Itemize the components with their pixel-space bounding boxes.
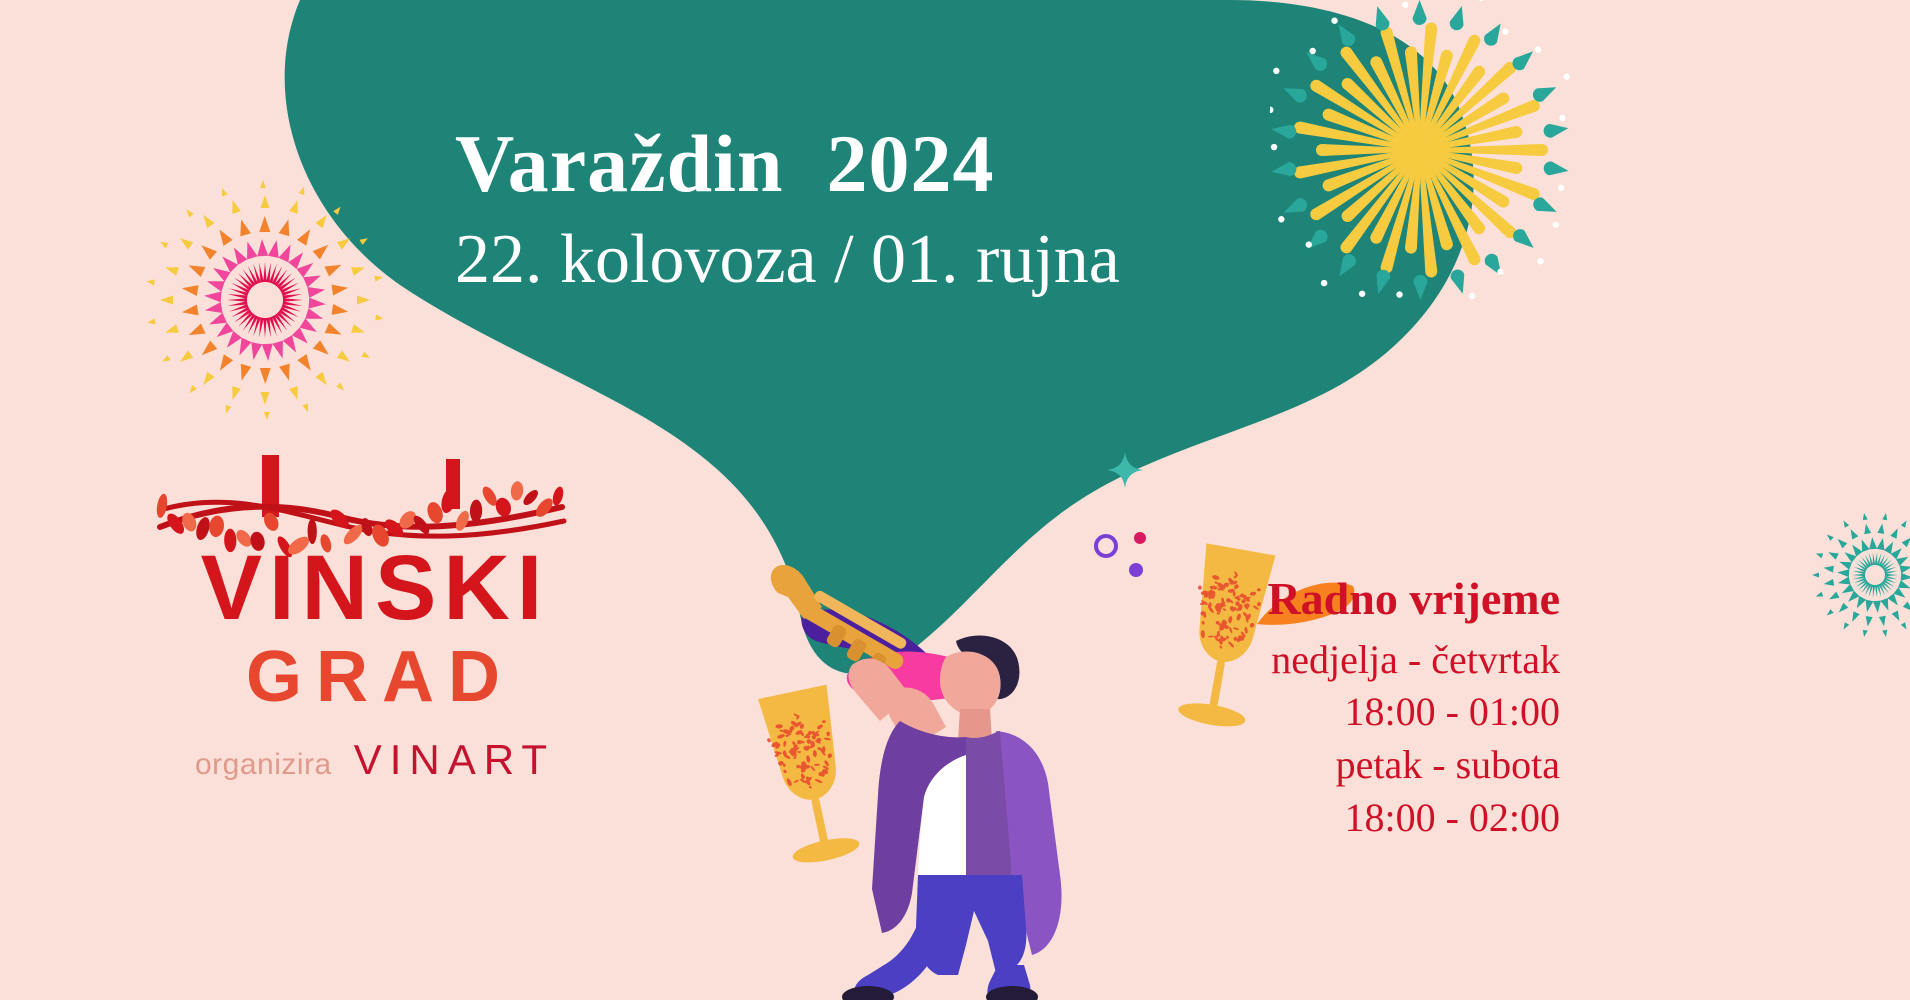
trumpet-player-illustration bbox=[760, 545, 1090, 1000]
firework-burst-icon bbox=[140, 175, 390, 425]
headline-block: Varaždin 2024 22. kolovoza / 01. rujna bbox=[455, 120, 1355, 310]
wine-glass-icon bbox=[745, 680, 875, 870]
organizer-name: VINART bbox=[354, 736, 555, 784]
logo-word-vinski: VINSKI bbox=[160, 545, 590, 632]
hours-time-2: 18:00 - 02:00 bbox=[1267, 792, 1560, 845]
working-hours-block: Radno vrijeme nedjelja - četvrtak 18:00 … bbox=[1267, 570, 1560, 845]
confetti-dots-icon bbox=[1090, 530, 1160, 600]
logo-word-grad: GRAD bbox=[160, 632, 590, 722]
organizer-line: organizira VINART bbox=[160, 736, 590, 784]
sparkle-icon bbox=[1105, 450, 1145, 490]
vinski-grad-logo: VINSKI GRAD organizira VINART bbox=[160, 545, 590, 784]
hours-days-1: nedjelja - četvrtak bbox=[1267, 634, 1560, 687]
firework-burst-teal-icon bbox=[1800, 500, 1910, 650]
page-title: Varaždin 2024 bbox=[455, 120, 1355, 209]
event-dates: 22. kolovoza / 01. rujna bbox=[455, 209, 1355, 311]
confetti-swoosh-purple-icon bbox=[800, 605, 930, 665]
confetti-swoosh-pink-icon bbox=[845, 645, 1005, 711]
hours-time-1: 18:00 - 01:00 bbox=[1267, 686, 1560, 739]
working-hours-title: Radno vrijeme bbox=[1267, 570, 1560, 628]
hours-days-2: petak - subota bbox=[1267, 739, 1560, 792]
organizer-label: organizira bbox=[195, 748, 332, 782]
banner-canvas: VINSKI GRAD organizira VINART Varaždin 2… bbox=[0, 0, 1910, 1000]
trumpet-icon bbox=[771, 565, 908, 677]
